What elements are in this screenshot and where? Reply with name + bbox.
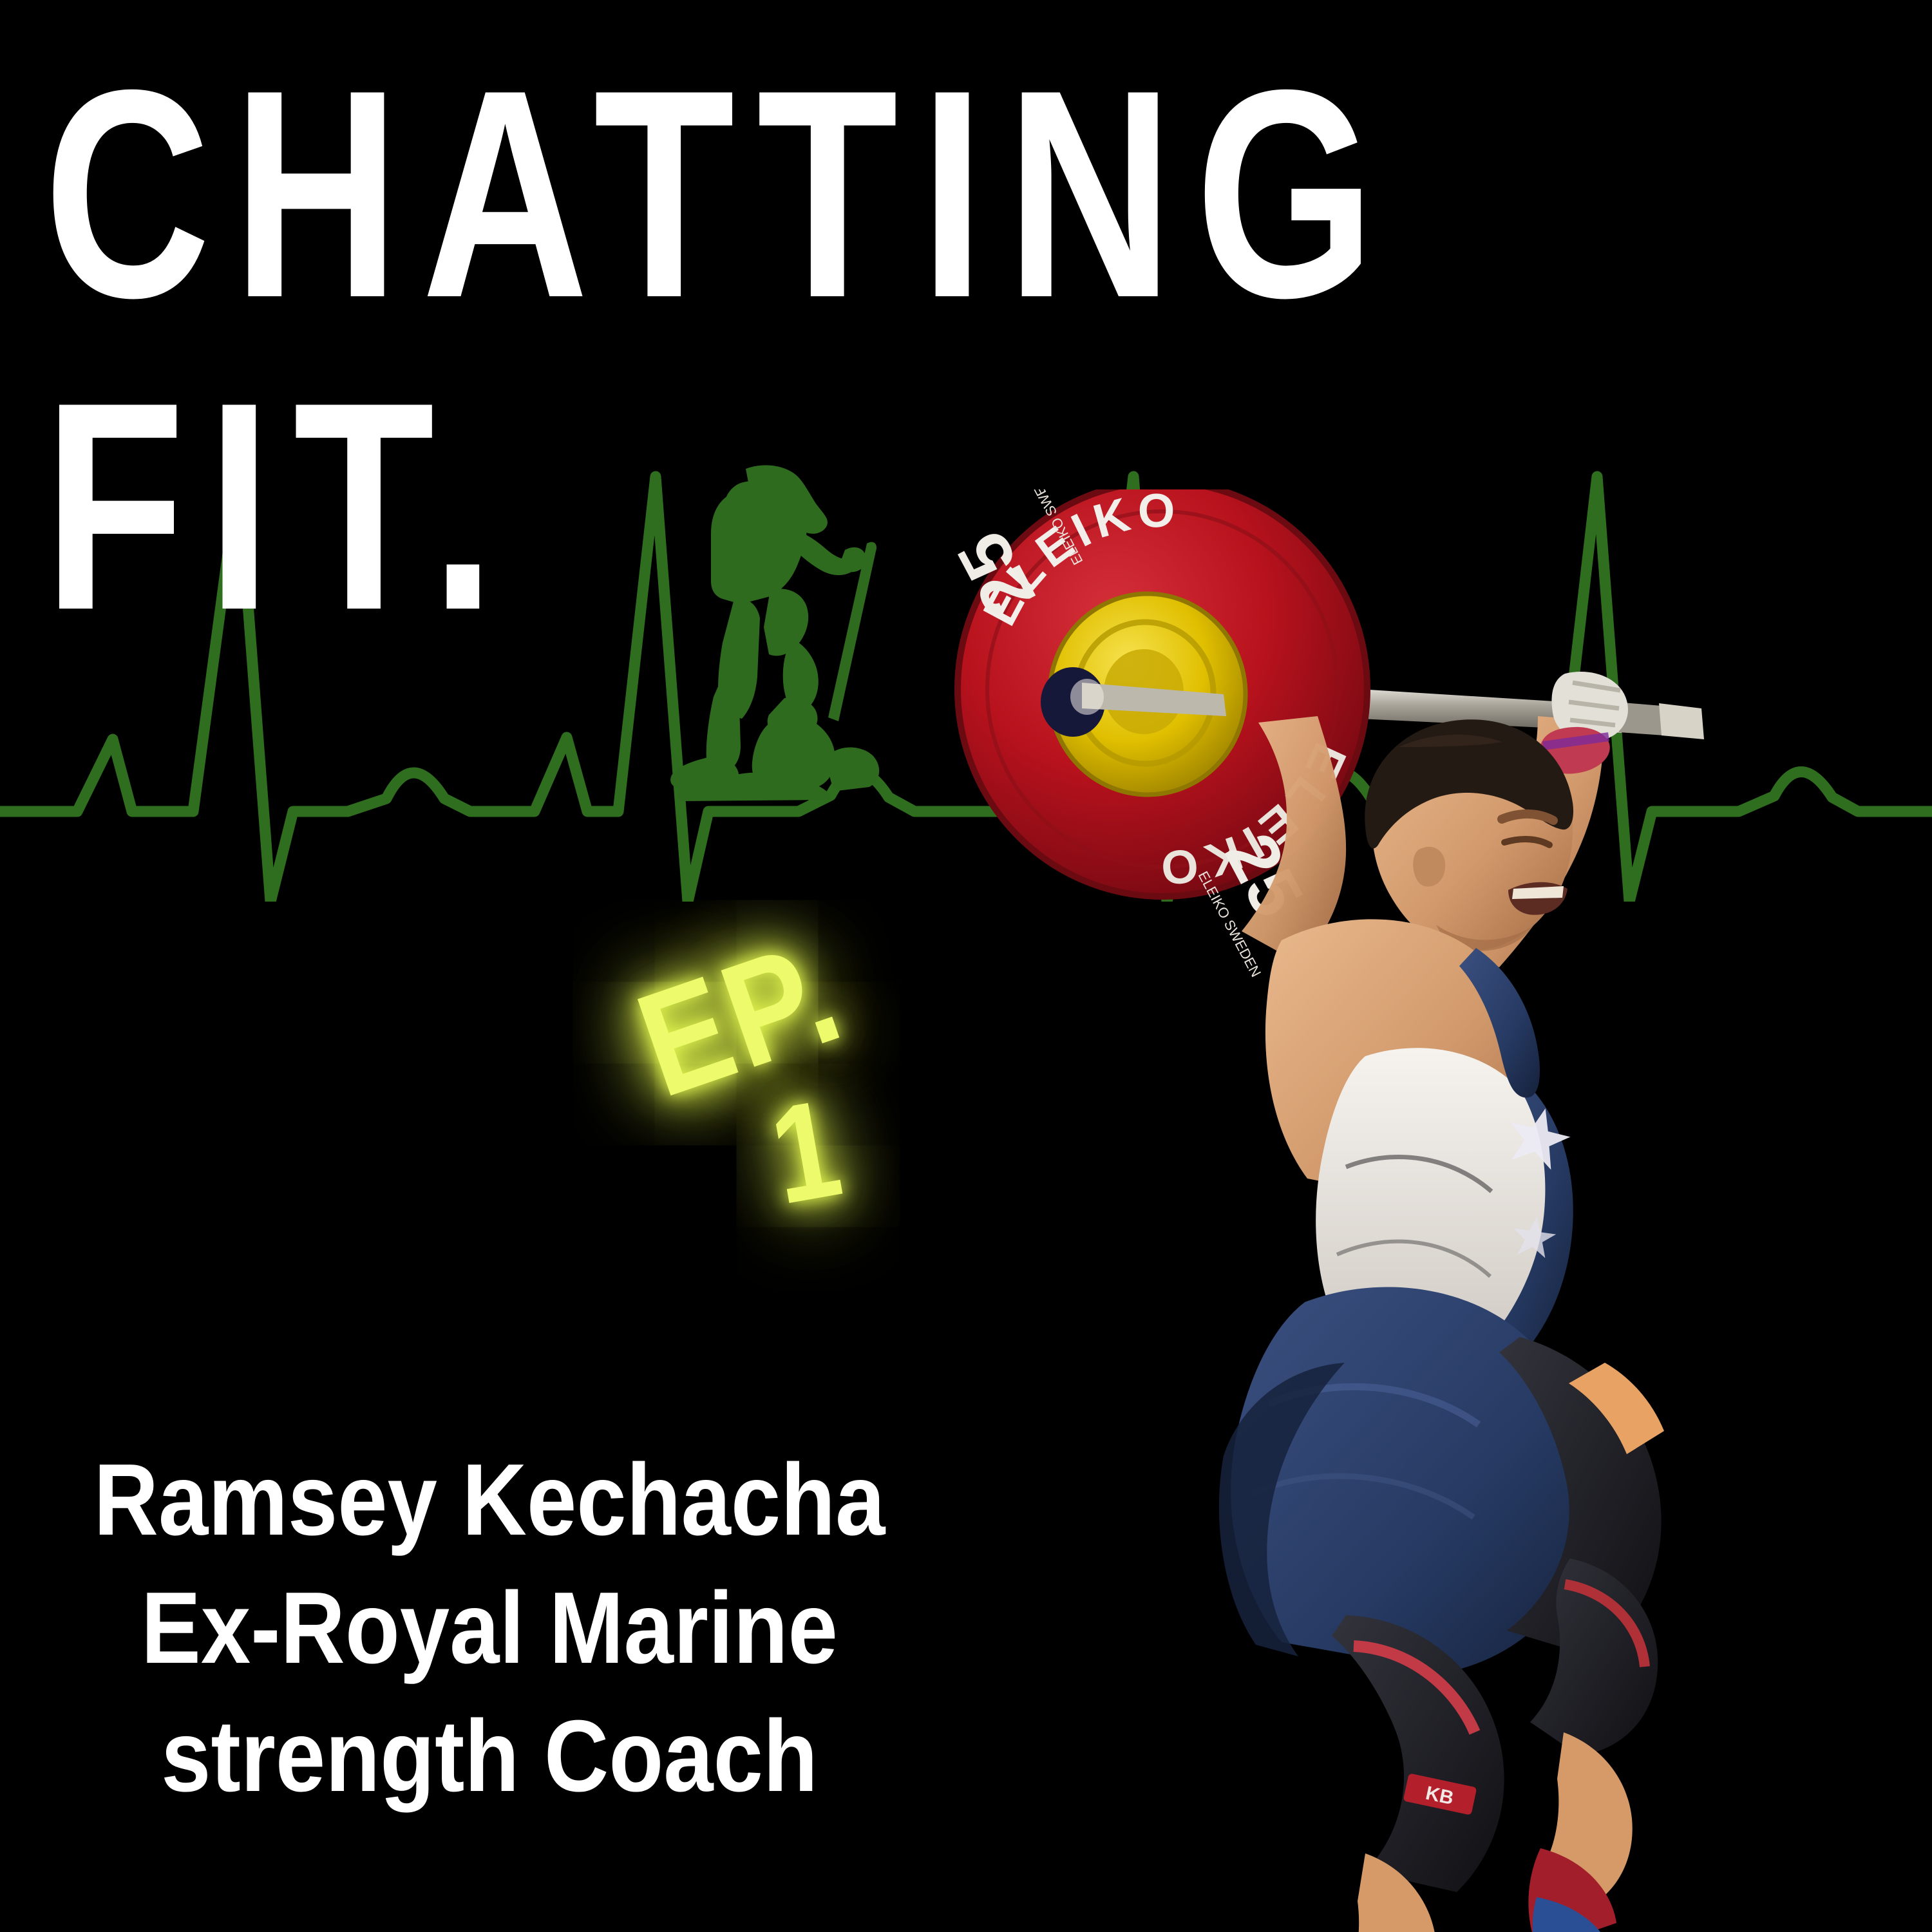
guest-name: Ramsey Kechacha xyxy=(93,1436,886,1564)
guest-role: Ex-Royal Marine xyxy=(93,1564,886,1692)
athlete-head xyxy=(1365,719,1573,951)
title-line-chatting: CHATTING xyxy=(44,58,1296,330)
guest-credits: Ramsey Kechacha Ex-Royal Marine strength… xyxy=(39,1436,940,1821)
episode-badge: EP. 1 xyxy=(583,947,1162,1346)
title-line-fit: FIT. xyxy=(44,370,1296,643)
podcast-cover-art: ELEIKO ELEIKO 25 25 ELEIKO SWEDEN ELEIKO… xyxy=(0,0,1932,1932)
cover-title: CHATTING FIT. xyxy=(39,58,1649,643)
guest-title: strength Coach xyxy=(93,1692,886,1821)
episode-number: 1 xyxy=(760,1068,851,1236)
